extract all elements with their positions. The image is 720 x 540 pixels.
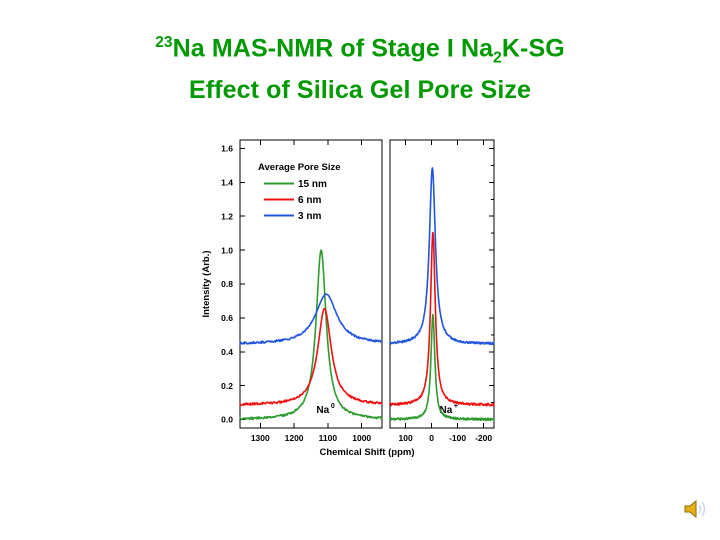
title-line-1-part-b: K-SG bbox=[502, 34, 565, 62]
title-line-2: Effect of Silica Gel Pore Size bbox=[0, 74, 720, 107]
x-axis-title: Chemical Shift (ppm) bbox=[319, 447, 414, 458]
plot-root: 0.00.20.40.60.81.01.21.41.6Intensity (Ar… bbox=[201, 140, 494, 458]
y-axis-title: Intensity (Arb.) bbox=[201, 250, 212, 317]
speaker-icon-svg bbox=[681, 495, 709, 523]
right-panel-frame bbox=[390, 140, 494, 428]
speaker-body bbox=[685, 501, 696, 517]
legend-label-6-nm: 6 nm bbox=[298, 195, 321, 206]
y-tick-label: 0.2 bbox=[221, 381, 233, 391]
legend-label-15-nm: 15 nm bbox=[298, 179, 327, 190]
y-tick-label: 0.4 bbox=[221, 347, 233, 357]
left-panel-x-tick-label: 1100 bbox=[319, 433, 338, 443]
chart-svg: 0.00.20.40.60.81.01.21.41.6Intensity (Ar… bbox=[196, 132, 516, 482]
left-panel-annotation-sup: 0 bbox=[331, 403, 335, 410]
legend-title: Average Pore Size bbox=[258, 162, 341, 173]
right-panel-annotation: Na bbox=[440, 405, 453, 416]
speaker-wave-1 bbox=[699, 505, 701, 513]
trace-3-nm-left-panel bbox=[240, 294, 382, 344]
left-panel-x-tick-label: 1000 bbox=[352, 433, 371, 443]
right-panel-x-tick-label: -100 bbox=[449, 433, 466, 443]
title-line-1: 23Na MAS-NMR of Stage I Na2K-SG bbox=[0, 26, 720, 74]
right-panel-x-tick-label: -200 bbox=[475, 433, 492, 443]
legend-label-3-nm: 3 nm bbox=[298, 211, 321, 222]
y-tick-label: 1.6 bbox=[221, 144, 233, 154]
y-tick-label: 1.2 bbox=[221, 211, 233, 221]
speaker-wave-2 bbox=[702, 502, 705, 516]
y-tick-label: 0.8 bbox=[221, 279, 233, 289]
title-line-1-part-a: Na MAS-NMR of Stage I Na bbox=[173, 34, 493, 62]
trace-15-nm-left-panel bbox=[240, 250, 382, 419]
left-panel-x-tick-label: 1300 bbox=[251, 433, 270, 443]
left-panel-x-tick-label: 1200 bbox=[285, 433, 304, 443]
speaker-icon[interactable] bbox=[681, 495, 709, 523]
right-panel-x-tick-label: 0 bbox=[429, 433, 434, 443]
y-tick-label: 0.0 bbox=[221, 415, 233, 425]
y-tick-label: 1.4 bbox=[221, 178, 233, 188]
y-tick-label: 0.6 bbox=[221, 313, 233, 323]
title-formula-subscript: 2 bbox=[493, 49, 502, 66]
slide-canvas: 23Na MAS-NMR of Stage I Na2K-SG Effect o… bbox=[0, 0, 720, 540]
left-panel-annotation: Na bbox=[316, 405, 329, 416]
trace-3-nm-right-panel bbox=[390, 168, 494, 345]
title-isotope-superscript: 23 bbox=[155, 34, 172, 51]
page-title: 23Na MAS-NMR of Stage I Na2K-SG Effect o… bbox=[0, 26, 720, 107]
nmr-spectrum-chart: 0.00.20.40.60.81.01.21.41.6Intensity (Ar… bbox=[196, 132, 516, 482]
y-tick-label: 1.0 bbox=[221, 245, 233, 255]
right-panel-x-tick-label: 100 bbox=[399, 433, 413, 443]
